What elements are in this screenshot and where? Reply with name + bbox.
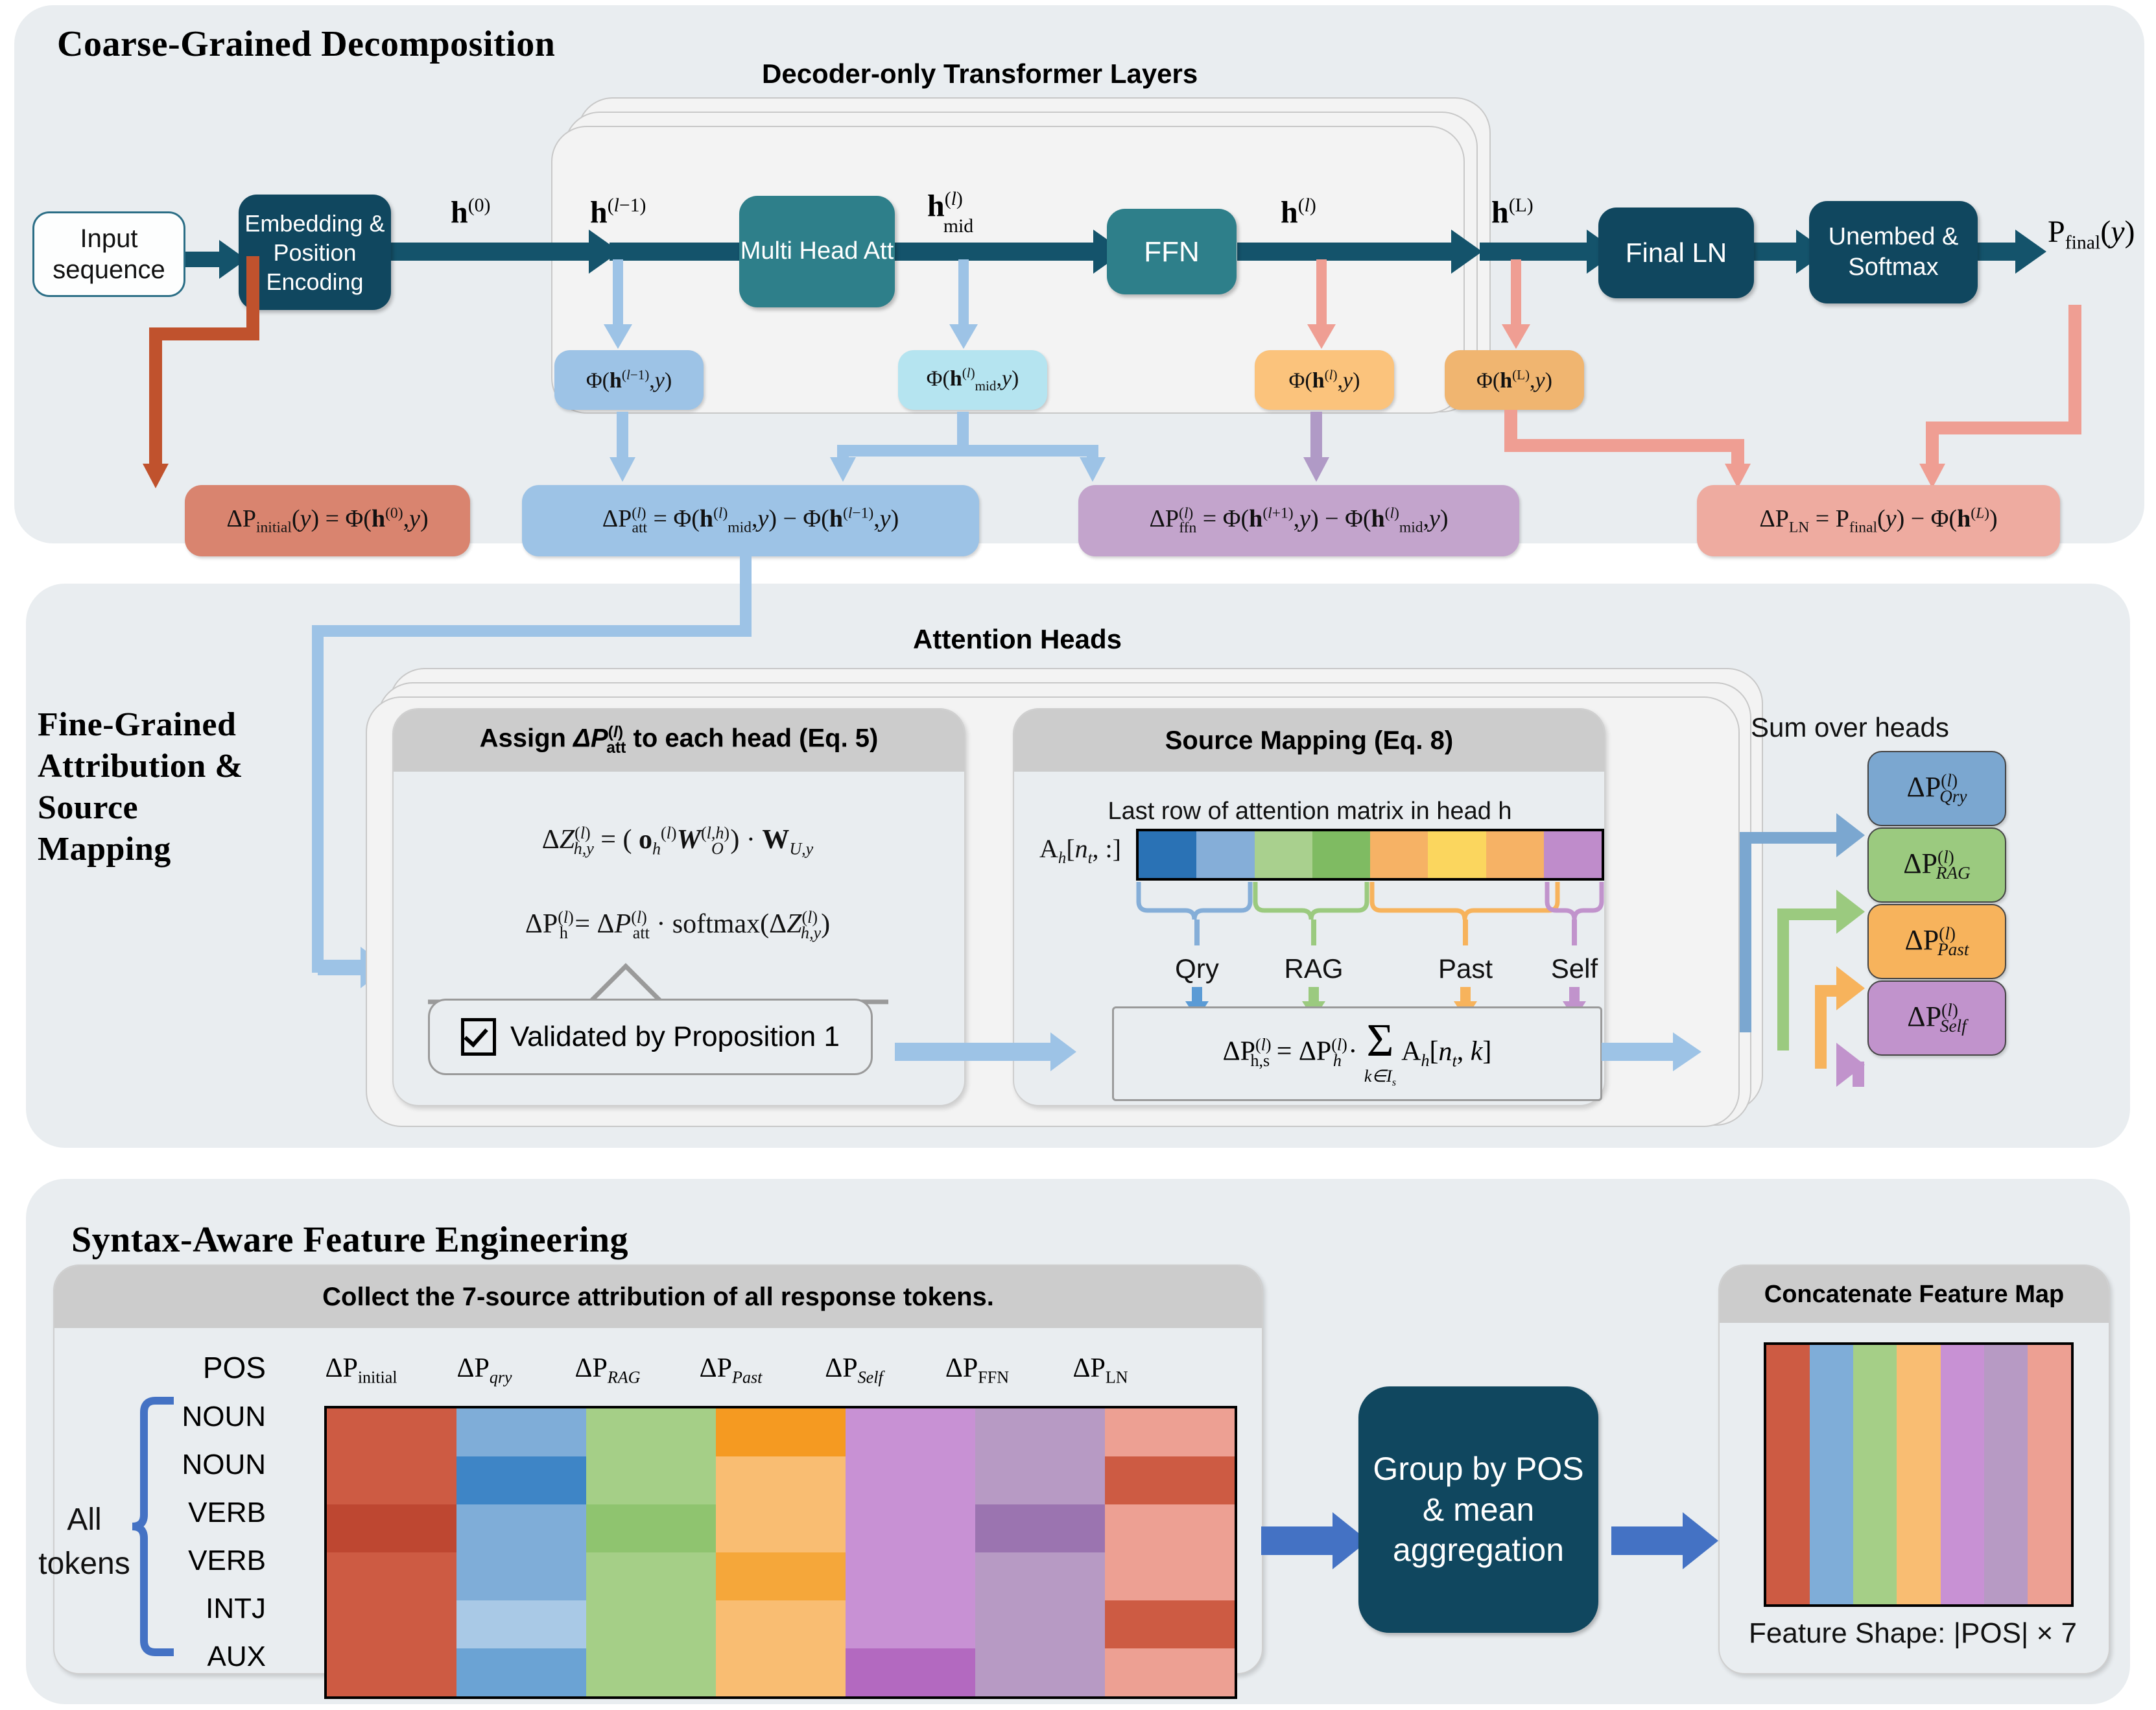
output-badge-qry: ΔP(l)Qry [1867,751,2006,826]
all-tokens-brace [123,1395,182,1668]
output-badge-qry-label: ΔP(l)Qry [1907,770,1967,807]
attention-row-label: Ah[nt, :] [1022,833,1139,868]
row-label-4: INTJ [169,1593,266,1625]
assign-head-card-title: Assign ΔP(l)att to each head (Eq. 5) [394,709,964,772]
group-label-self: Self [1522,953,1626,984]
heatmap-cell [456,1648,586,1696]
heatmap-cell [327,1456,456,1504]
feature-map-stripe [1897,1345,1940,1604]
eq-delta-ph: ΔP(l)h = ΔP(l)att · softmax(ΔZ(l)h,y) [415,908,940,943]
all-tokens-label-2: tokens [26,1546,143,1582]
group-by-pos-box: Group by POS & mean aggregation [1358,1386,1598,1633]
group-by-pos-label: Group by POS & mean aggregation [1358,1449,1598,1571]
heatmap-cell [975,1600,1105,1648]
phs-flow-arrows [895,1031,1705,1076]
heatmap-column [1105,1408,1235,1696]
eq-initial-label: ΔPinitial(y) = Φ(h(0),y) [226,505,428,537]
heatmap-cell [327,1552,456,1600]
heatmap-cell [846,1648,975,1696]
row-label-1: NOUN [169,1449,266,1481]
feature-map-stripe [1941,1345,1984,1604]
feature-map-stripe [1853,1345,1897,1604]
panel-syntax-title: Syntax-Aware Feature Engineering [71,1219,628,1261]
validated-proposition-box: Validated by Proposition 1 [428,999,873,1075]
output-badge-past-label: ΔP(l)Past [1904,923,1969,960]
attn-seg-1 [1196,831,1254,878]
heatmap-cell [975,1552,1105,1600]
all-tokens-label-1: All [39,1502,130,1538]
attn-seg-0 [1139,831,1196,878]
col-label-4: ΔPSelf [792,1353,916,1387]
heatmap-cell [1105,1408,1235,1456]
heatmap-cell [846,1456,975,1504]
feature-map-stripe [1984,1345,2028,1604]
heatmap-cell [975,1648,1105,1696]
heatmap-cell [586,1600,716,1648]
feature-map-stripe [2028,1345,2071,1604]
attn-seg-2 [1255,831,1312,878]
heatmap-cell [716,1408,846,1456]
heatmap-cell [586,1408,716,1456]
eq-ffn-label: ΔP(l)ffn = Φ(h(l+1),y) − Φ(h(l)mid,y) [1149,505,1448,537]
attention-caption: Last row of attention matrix in head h [1037,798,1582,825]
heatmap-column [716,1408,846,1696]
collect-attribution-card-title: Collect the 7-source attribution of all … [54,1266,1262,1328]
group-label-qry: Qry [1145,953,1249,984]
row-label-2: VERB [169,1497,266,1529]
attention-row-matrix [1136,829,1604,881]
heatmap-cell [846,1408,975,1456]
pos-header-label: POS [188,1350,266,1385]
heatmap-cell [1105,1600,1235,1648]
validated-label: Validated by Proposition 1 [510,1021,840,1053]
eq-ln-label: ΔPLN = Pfinal(y) − Φ(h(L)) [1759,505,1997,537]
group-label-rag: RAG [1262,953,1366,984]
attn-seg-4 [1370,831,1428,878]
heatmap-cell [716,1600,846,1648]
eq-att-label: ΔP(l)att = Φ(h(l)mid,y) − Φ(h(l−1),y) [602,505,899,537]
heatmap-cell [456,1504,586,1552]
row-label-5: AUX [169,1641,266,1673]
output-badge-rag-label: ΔP(l)RAG [1903,847,1971,884]
heatmap-column [586,1408,716,1696]
heatmap-cell [1105,1552,1235,1600]
heatmap-column [327,1408,456,1696]
heatmap-cell [716,1456,846,1504]
feature-shape-label: Feature Shape: |POS| × 7 [1725,1617,2101,1650]
group-label-past: Past [1414,953,1517,984]
heatmap-cell [1105,1504,1235,1552]
col-label-1: ΔPqry [423,1353,546,1387]
heatmap-cell [1105,1456,1235,1504]
output-badge-past: ΔP(l)Past [1867,904,2006,979]
heatmap-column [846,1408,975,1696]
heatmap-cell [456,1408,586,1456]
heatmap-cell [327,1408,456,1456]
attn-seg-5 [1428,831,1486,878]
col-label-2: ΔPRAG [546,1353,669,1387]
heatmap-cell [975,1456,1105,1504]
heatmap-cell [327,1600,456,1648]
source-mapping-card-title: Source Mapping (Eq. 8) [1014,709,1604,772]
equation-routing-lines [0,0,2156,545]
concat-feature-map-card-title: Concatenate Feature Map [1720,1266,2109,1323]
row-label-0: NOUN [169,1401,266,1433]
col-label-3: ΔPPast [669,1353,792,1387]
heatmap-column [456,1408,586,1696]
heatmap-cell [846,1504,975,1552]
attn-seg-7 [1544,831,1602,878]
output-badge-self-label: ΔP(l)Self [1907,1000,1966,1037]
sum-over-heads-label: Sum over heads [1751,712,2023,743]
heatmap-cell [586,1648,716,1696]
heatmap-cell [1105,1648,1235,1696]
eq-delta-z: ΔZ(l)h,y = ( oh(l)W(l,h)O ) · WU,y [415,824,940,859]
heatmap-column [975,1408,1105,1696]
concat-feature-map [1764,1342,2074,1607]
heatmap-cell [456,1456,586,1504]
heatmap-cell [716,1648,846,1696]
heatmap-cell [456,1600,586,1648]
heatmap-cell [975,1408,1105,1456]
heatmap-cell [586,1552,716,1600]
heatmap-cell [716,1552,846,1600]
heatmap-cell [327,1648,456,1696]
output-badge-self: ΔP(l)Self [1867,980,2006,1056]
heatmap-cell [716,1504,846,1552]
heatmap-cell [327,1504,456,1552]
col-label-0: ΔPinitial [300,1353,423,1387]
heatmap-cell [846,1600,975,1648]
heatmap-cell [586,1456,716,1504]
figure-root: Coarse-Grained Decomposition Decoder-onl… [0,0,2156,1710]
col-label-6: ΔPLN [1039,1353,1162,1387]
heatmap-cell [846,1552,975,1600]
output-badge-rag: ΔP(l)RAG [1867,827,2006,903]
assign-head-card-title-label: Assign ΔP(l)att to each head (Eq. 5) [480,724,879,757]
feature-map-stripe [1810,1345,1853,1604]
feature-map-stripe [1766,1345,1810,1604]
checkbox-icon [461,1018,496,1056]
heatmap-cell [586,1504,716,1552]
heatmap-cell [456,1552,586,1600]
heatmap-cell [975,1504,1105,1552]
col-label-5: ΔPFFN [916,1353,1039,1387]
row-label-3: VERB [169,1545,266,1577]
attn-seg-3 [1312,831,1370,878]
attribution-heatmap [324,1406,1237,1699]
attn-seg-6 [1486,831,1544,878]
